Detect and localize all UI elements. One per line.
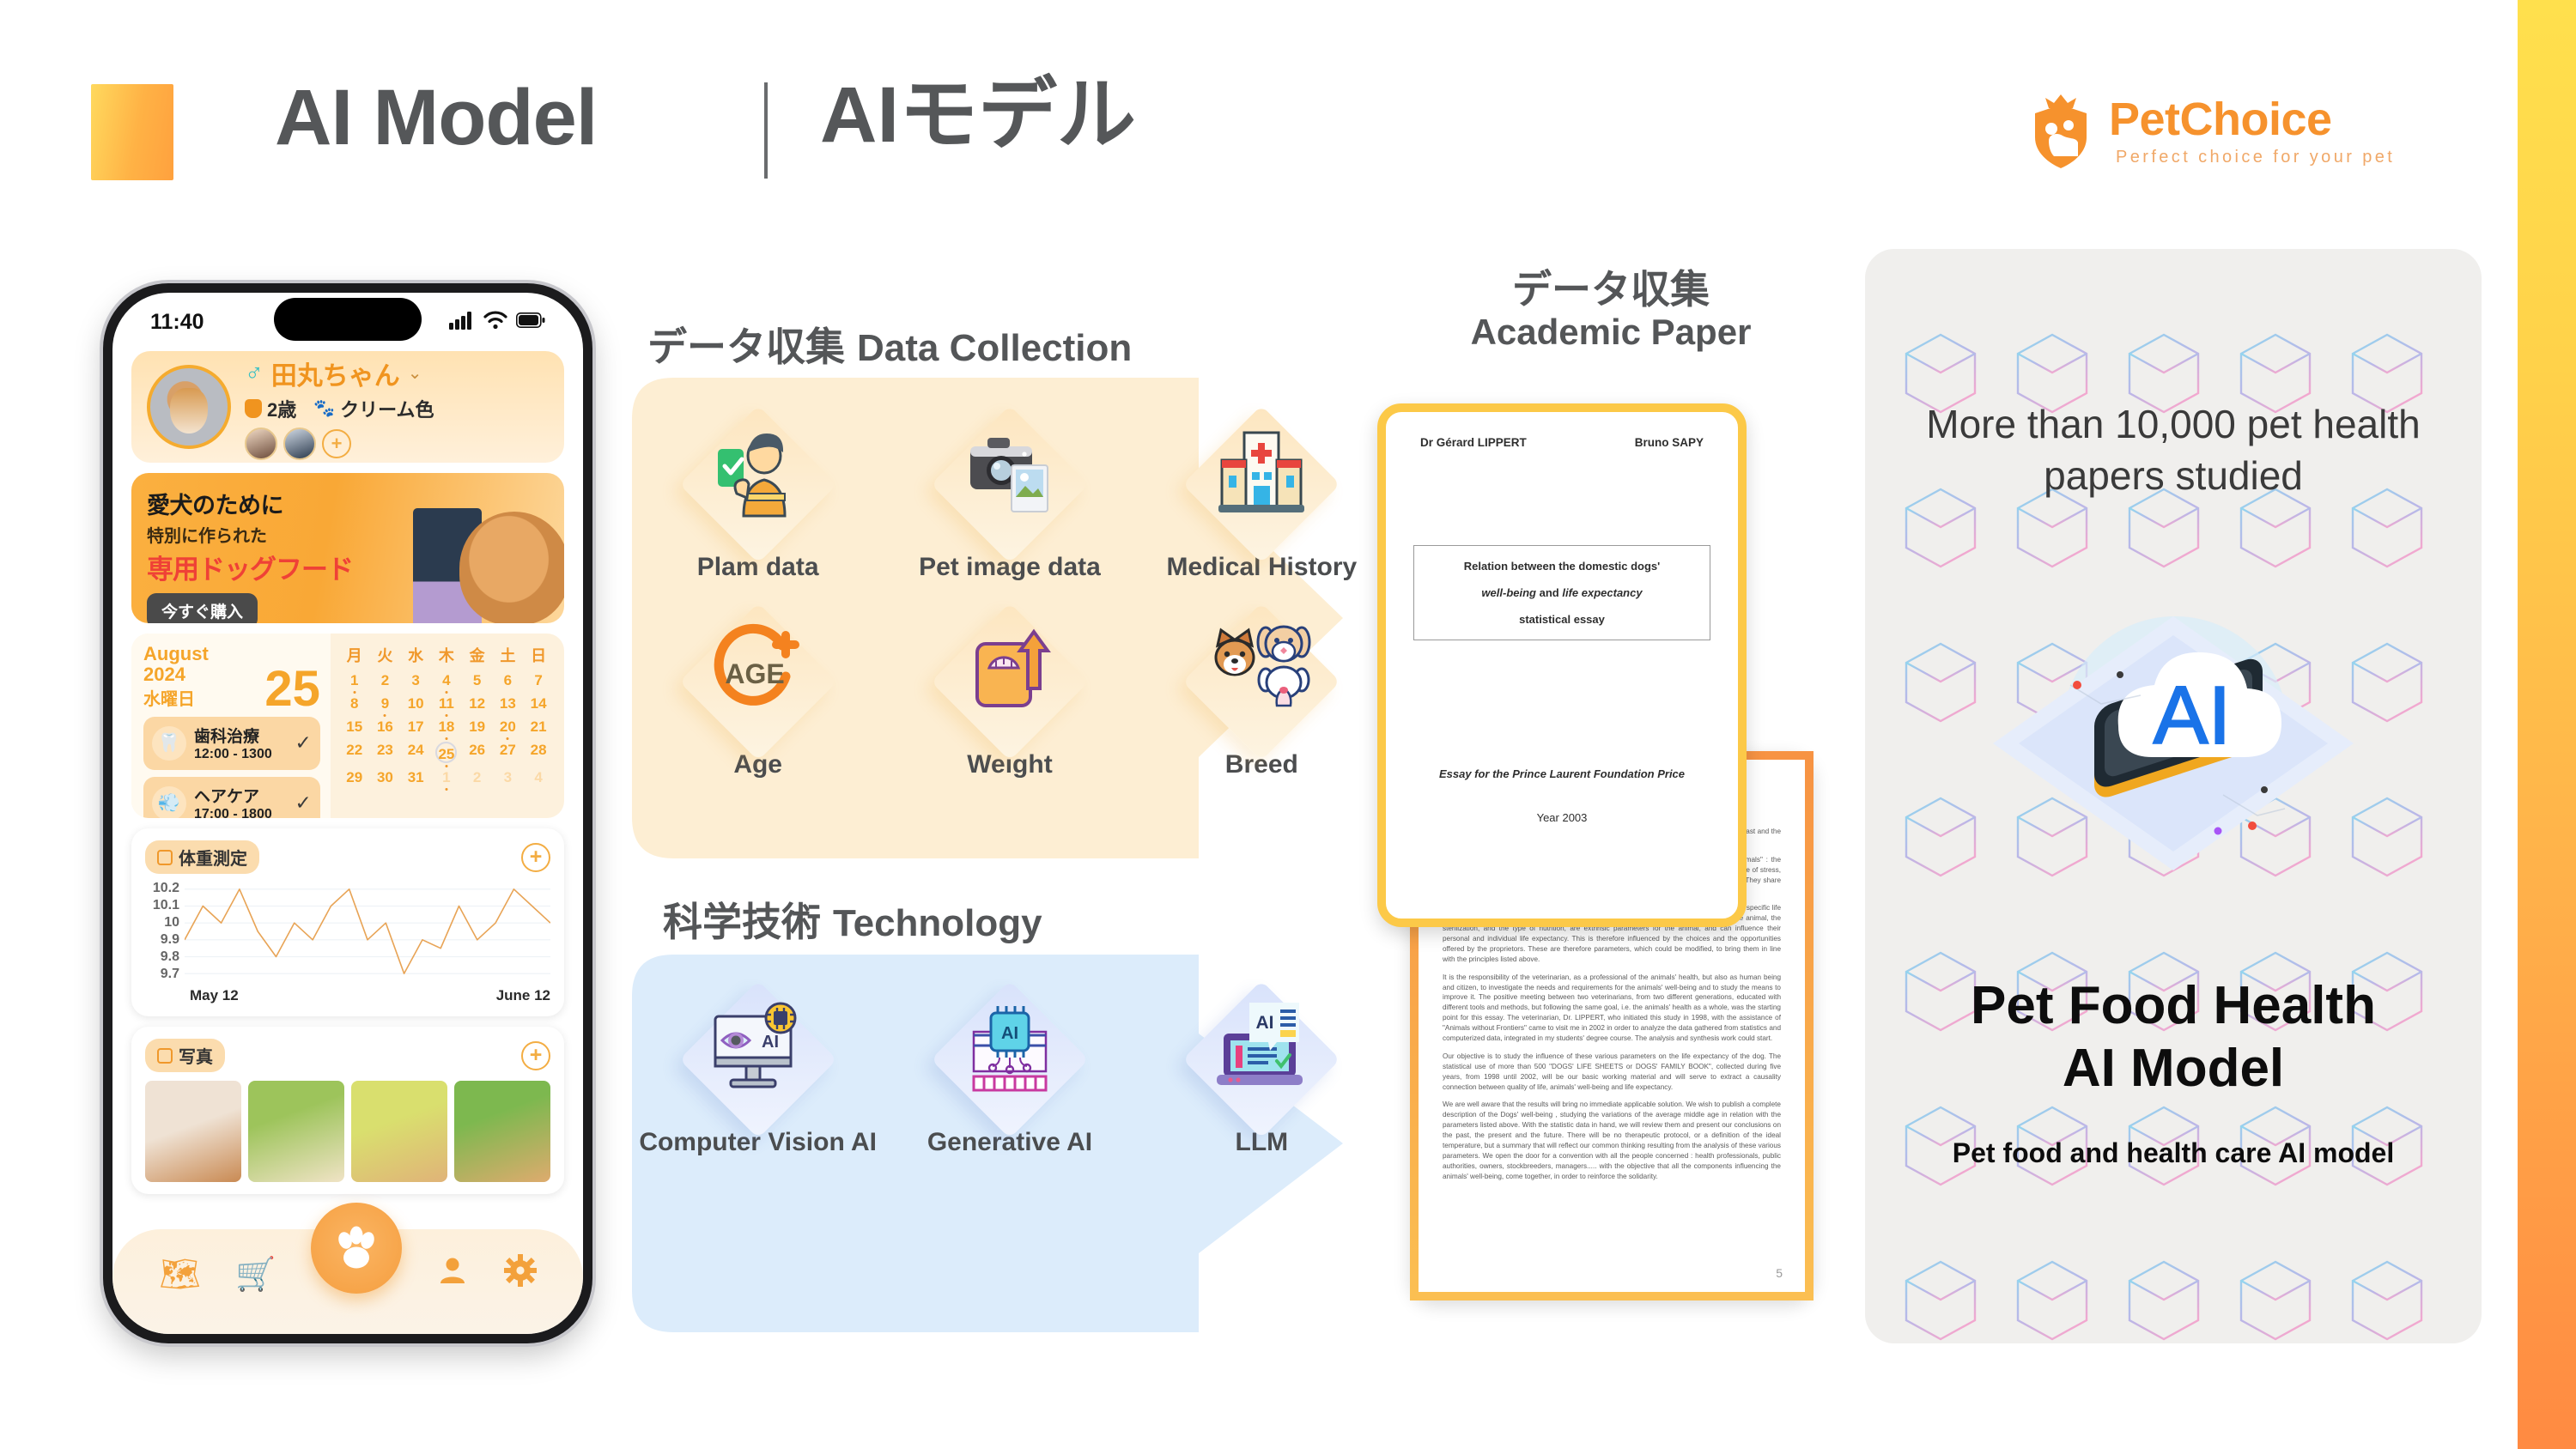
tile-generative-ai[interactable]: AI Generative AI: [884, 979, 1135, 1156]
scale-small-icon: [157, 850, 173, 865]
pet-avatar[interactable]: [147, 365, 231, 449]
calendar-day-cell[interactable]: 12: [462, 695, 493, 712]
avatar[interactable]: [283, 427, 316, 460]
calendar-day-cell[interactable]: 5: [462, 672, 493, 689]
chevron-down-icon[interactable]: ⌄: [408, 362, 422, 384]
tile-plam-data[interactable]: Plam data: [632, 403, 884, 581]
calendar-day-cell[interactable]: 16: [370, 718, 401, 736]
calendar-day-cell[interactable]: 28: [523, 742, 554, 763]
academic-paper-front-page[interactable]: Dr Gérard LIPPERT Bruno SAPY Relation be…: [1377, 403, 1747, 927]
tile-computer-vision-ai[interactable]: AI Computer Vision AI: [632, 979, 884, 1156]
chart-y-tick: 10.2: [145, 881, 179, 896]
battery-icon: [516, 312, 545, 332]
paper-footer-note: Essay for the Prince Laurent Foundation …: [1408, 767, 1716, 780]
tooth-icon: 🦷: [152, 726, 186, 761]
paper-title-em-2: life expectancy: [1562, 586, 1642, 599]
paper-title-line-1: Relation between the domestic dogs': [1423, 560, 1701, 573]
phone-screen: 11:40: [112, 293, 583, 1334]
svg-text:AI: AI: [1256, 1013, 1274, 1033]
chart-x-end: June 12: [496, 987, 550, 1004]
camera-photo-icon: [962, 426, 1058, 522]
paper-title-and: and: [1540, 586, 1559, 599]
event-title: ヘアケア: [194, 784, 288, 807]
person-phone-check-icon: [711, 427, 805, 521]
paper-paragraph: Our objective is to study the influence …: [1443, 1052, 1781, 1093]
calendar-day-cell[interactable]: 25: [431, 742, 462, 763]
data-collection-tiles-row-2: AGE Age Weight: [632, 601, 1388, 779]
map-icon[interactable]: 🗺: [159, 1256, 200, 1294]
calendar-day-cell[interactable]: 4: [523, 769, 554, 786]
calendar-day-cell[interactable]: 13: [493, 695, 524, 712]
chart-y-tick: 9.9: [145, 932, 179, 948]
calendar-dow-label: 金: [462, 644, 493, 666]
brand-logo: PetChoice Perfect choice for your pet: [2020, 86, 2397, 180]
paper-title-line-3: statistical essay: [1423, 613, 1701, 626]
laptop-ai-doc-icon: AI: [1212, 1001, 1311, 1097]
calendar-day-cell[interactable]: 9: [370, 695, 401, 712]
calendar-day-cell[interactable]: 6: [493, 672, 524, 689]
weight-label-text: 体重測定: [179, 845, 247, 870]
image-icon: [157, 1048, 173, 1064]
technology-heading-en: Technology: [833, 902, 1042, 944]
pet-color: 🐾 クリーム色: [313, 395, 434, 422]
middle-column: データ収集Data Collection Plam data: [615, 0, 1370, 1449]
chart-y-tick: 10: [145, 915, 179, 931]
paper-title-em-1: well-being: [1481, 586, 1536, 599]
technology-heading: 科学技術Technology: [663, 891, 1042, 948]
tile-age[interactable]: AGE Age: [632, 601, 884, 779]
age-ring-icon: AGE: [710, 623, 806, 719]
ai-model-title-line-2: AI Model: [1865, 1037, 2482, 1100]
event-check-icon[interactable]: ✓: [295, 791, 312, 815]
event-title: 歯科治療: [194, 724, 288, 747]
paper-title-line-2: well-being and life expectancy: [1423, 586, 1701, 599]
photo-strip: [145, 1081, 550, 1182]
paper-author-left: Dr Gérard LIPPERT: [1420, 436, 1527, 449]
svg-text:AI: AI: [1001, 1024, 1018, 1043]
tile-weight[interactable]: Weight: [884, 601, 1135, 779]
phone-mockup: 11:40: [103, 283, 601, 1356]
photos-label-text: 写真: [179, 1043, 213, 1068]
chart-y-tick: 9.7: [145, 967, 179, 982]
calendar-day-cell[interactable]: 4: [431, 672, 462, 689]
logo-wordmark: PetChoice: [2109, 93, 2332, 146]
photo-thumbnail[interactable]: [248, 1081, 344, 1182]
ai-chip-icon: AI: [962, 1001, 1058, 1097]
calendar-day-cell[interactable]: 29: [339, 769, 370, 786]
ai-model-panel: More than 10,000 pet health papers studi…: [1865, 249, 2482, 1343]
calendar-dow-label: 水: [400, 644, 431, 666]
calendar-dow-label: 月: [339, 644, 370, 666]
photos-card: 写真 +: [131, 1027, 564, 1194]
pet-profile-card[interactable]: ♂ 田丸ちゃん ⌄ 2歳 🐾 クリーム色: [131, 351, 564, 463]
calendar-day-cell[interactable]: 23: [370, 742, 401, 763]
event-time: 12:00 - 1300: [194, 747, 288, 762]
paw-icon: 🐾: [313, 397, 335, 419]
calendar-day-cell[interactable]: 7: [523, 672, 554, 689]
calendar-day-cell[interactable]: 1: [339, 672, 370, 689]
promo-line-1: 愛犬のために: [147, 487, 549, 520]
calendar-day-cell[interactable]: 2: [462, 769, 493, 786]
weight-line-series: [185, 889, 550, 973]
dog-breeds-icon: [1211, 623, 1312, 719]
calendar-day-cell[interactable]: 8: [339, 695, 370, 712]
page-number: 5: [1776, 1266, 1783, 1280]
monitor-eye-ai-icon: AI: [708, 1001, 808, 1097]
calendar-day-cell[interactable]: 18: [431, 718, 462, 736]
tile-medical-history[interactable]: Medical History: [1136, 403, 1388, 581]
calendar-dow-label: 火: [370, 644, 401, 666]
event-time: 17:00 - 1800: [194, 807, 288, 818]
academic-heading-jp: データ収集: [1370, 268, 1851, 312]
ai-cloud-phone-illustration: AI: [1950, 584, 2397, 944]
photo-thumbnail[interactable]: [351, 1081, 447, 1182]
svg-text:AI: AI: [762, 1033, 779, 1052]
hospital-icon: [1215, 427, 1308, 520]
calendar-day-cell[interactable]: 11: [431, 695, 462, 712]
chart-y-axis: 10.210.1109.99.89.7: [145, 881, 185, 982]
chart-y-tick: 10.1: [145, 898, 179, 913]
paper-paragraph: We are well aware that the results will …: [1443, 1100, 1781, 1181]
calendar-day-cell[interactable]: 1: [431, 769, 462, 786]
calendar-month: August: [143, 644, 209, 664]
calendar-month-grid[interactable]: 月火水木金土日123456789101112131415161718192021…: [331, 634, 564, 818]
data-collection-heading-en: Data Collection: [857, 327, 1132, 369]
pet-name: 田丸ちゃん: [271, 355, 400, 392]
buy-now-button[interactable]: 今すぐ購入: [147, 593, 258, 623]
calendar-day-cell[interactable]: 17: [400, 718, 431, 736]
hairdryer-icon: 💨: [152, 786, 186, 819]
technology-heading-jp: 科学技術: [663, 900, 821, 944]
calendar-dow-label: 木: [431, 644, 462, 666]
promo-banner[interactable]: 愛犬のために 特別に作られた 専用ドッグフード 今すぐ購入: [131, 473, 564, 623]
paper-title-box: Relation between the domestic dogs' well…: [1413, 545, 1710, 640]
calendar-dow-label: 土: [493, 644, 524, 666]
bottom-tab-bar[interactable]: 🗺 🛒: [112, 1229, 583, 1334]
calendar-day-cell[interactable]: 22: [339, 742, 370, 763]
svg-text:AI: AI: [2154, 670, 2232, 761]
photos-card-label: 写真: [145, 1039, 225, 1072]
calendar-day-cell[interactable]: 27: [493, 742, 524, 763]
calendar-day-cell[interactable]: 21: [523, 718, 554, 736]
gear-icon[interactable]: [504, 1254, 537, 1295]
wifi-icon: [483, 311, 507, 334]
academic-heading-en: Academic Paper: [1370, 312, 1851, 353]
shiba-dog-image: [459, 512, 564, 623]
calendar-year: 2024: [143, 664, 209, 685]
calendar-day-cell[interactable]: 14: [523, 695, 554, 712]
ai-model-title: Pet Food Health AI Model: [1865, 974, 2482, 1100]
signal-icon: [449, 311, 475, 334]
petchoice-shield-icon: [2020, 89, 2102, 172]
ai-model-subtitle: Pet food and health care AI model: [1865, 1137, 2482, 1169]
academic-paper-heading: データ収集 Academic Paper: [1370, 268, 1851, 353]
calendar-event[interactable]: 🦷 歯科治療 12:00 - 1300 ✓: [143, 717, 320, 770]
tile-pet-image-data[interactable]: Pet image data: [884, 403, 1135, 581]
academic-paper-column: データ収集 Academic Paper prophylaxy. This st…: [1370, 0, 1851, 1449]
dynamic-island: [274, 298, 422, 341]
data-collection-heading-jp: データ収集: [647, 324, 845, 369]
weight-chart-card: 体重測定 + 10.210.1109.99.89.7 May 12 June 1…: [131, 828, 564, 1016]
pet-age: 2歳: [245, 395, 296, 422]
owner-avatars: +: [245, 427, 549, 460]
data-collection-tiles-row-1: Plam data Pet image data: [632, 403, 1388, 581]
cart-icon[interactable]: 🛒: [235, 1256, 276, 1294]
pet-age-value: 2歳: [267, 395, 296, 422]
page-title-en: AI Model: [275, 73, 597, 164]
avatar[interactable]: [245, 427, 277, 460]
phone-frame: 11:40: [103, 283, 592, 1343]
calendar-today-panel: August 2024 水曜日 25 🦷 歯科治療 12:00 - 1300: [131, 634, 331, 818]
tile-breed[interactable]: Breed: [1136, 601, 1388, 779]
photo-thumbnail[interactable]: [145, 1081, 241, 1182]
add-weight-button[interactable]: +: [521, 843, 550, 872]
status-bar: 11:40: [112, 293, 583, 346]
calendar-weekday: 水曜日: [143, 685, 209, 710]
weight-line-chart: [185, 881, 550, 982]
calendar-day-cell[interactable]: 10: [400, 695, 431, 712]
technology-tiles-row: AI Computer Vision AI AI: [632, 979, 1388, 1156]
calendar-day-cell[interactable]: 30: [370, 769, 401, 786]
calendar-day-number: 25: [264, 669, 320, 710]
chart-y-tick: 9.8: [145, 949, 179, 965]
paper-year: Year 2003: [1408, 811, 1716, 824]
weight-card-label: 体重測定: [145, 840, 259, 874]
papers-studied-stat: More than 10,000 pet health papers studi…: [1865, 399, 2482, 502]
profile-icon[interactable]: [436, 1254, 469, 1295]
calendar-day-cell[interactable]: 3: [493, 769, 524, 786]
add-owner-button[interactable]: +: [322, 429, 351, 458]
add-photo-button[interactable]: +: [521, 1041, 550, 1070]
tile-llm[interactable]: AI LLM: [1136, 979, 1388, 1156]
paper-paragraph: It is the responsibility of the veterina…: [1443, 973, 1781, 1044]
calendar-dow-label: 日: [523, 644, 554, 666]
shield-icon: [245, 399, 262, 418]
calendar-widget[interactable]: August 2024 水曜日 25 🦷 歯科治療 12:00 - 1300: [131, 634, 564, 818]
header-accent-swatch: [91, 84, 173, 180]
calendar-day-cell[interactable]: 24: [400, 742, 431, 763]
calendar-day-cell[interactable]: 15: [339, 718, 370, 736]
calendar-day-cell[interactable]: 26: [462, 742, 493, 763]
calendar-day-cell[interactable]: 3: [400, 672, 431, 689]
photo-thumbnail[interactable]: [454, 1081, 550, 1182]
chart-x-start: May 12: [190, 987, 239, 1004]
logo-tagline: Perfect choice for your pet: [2116, 148, 2395, 167]
scale-icon: [963, 625, 1056, 718]
calendar-day-cell[interactable]: 2: [370, 672, 401, 689]
calendar-day-cell[interactable]: 19: [462, 718, 493, 736]
paper-author-right: Bruno SAPY: [1635, 436, 1704, 449]
ai-model-title-line-1: Pet Food Health: [1865, 974, 2482, 1037]
event-check-icon[interactable]: ✓: [295, 731, 312, 755]
calendar-day-cell[interactable]: 20: [493, 718, 524, 736]
calendar-day-cell[interactable]: 31: [400, 769, 431, 786]
calendar-event[interactable]: 💨 ヘアケア 17:00 - 1800 ✓: [143, 777, 320, 819]
pet-color-value: クリーム色: [340, 395, 434, 422]
status-time: 11:40: [150, 310, 204, 335]
gender-male-icon: ♂: [245, 359, 264, 387]
paw-icon[interactable]: [311, 1203, 402, 1294]
data-collection-heading: データ収集Data Collection: [647, 316, 1132, 373]
right-edge-gradient-strip: [2518, 0, 2576, 1449]
svg-text:AGE: AGE: [725, 658, 784, 689]
